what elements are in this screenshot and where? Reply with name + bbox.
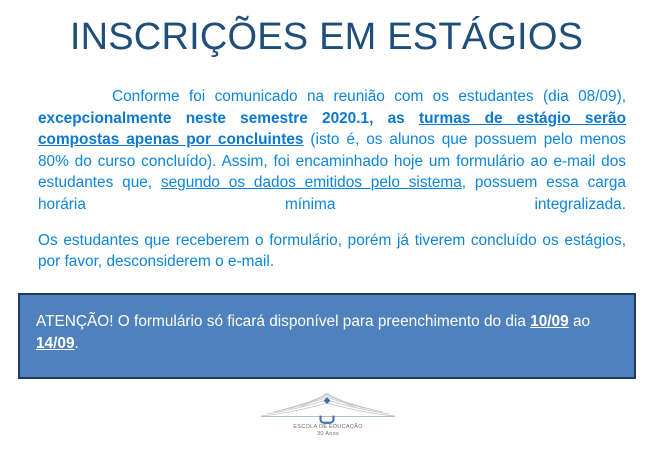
logo-caption-line-1: ESCOLA DE EDUCAÇÃO bbox=[253, 424, 403, 431]
paragraph-one-bold-segment: excepcionalmente neste semestre 2020.1, … bbox=[38, 110, 419, 127]
attention-segment-1: ATENÇÃO! O formulário só ficará disponív… bbox=[36, 313, 530, 330]
attention-date-end: 14/09 bbox=[36, 335, 75, 352]
paragraph-one-segment-1: Conforme foi comunicado na reunião com o… bbox=[112, 88, 626, 105]
attention-callout-box: ATENÇÃO! O formulário só ficará disponív… bbox=[18, 293, 636, 379]
slide-canvas: INSCRIÇÕES EM ESTÁGIOS Conforme foi comu… bbox=[0, 0, 653, 451]
attention-text: ATENÇÃO! O formulário só ficará disponív… bbox=[36, 311, 622, 355]
paragraph-two: Os estudantes que receberem o formulário… bbox=[38, 230, 626, 273]
logo-caption: ESCOLA DE EDUCAÇÃO 30 Anos bbox=[253, 424, 403, 439]
attention-segment-3: . bbox=[75, 335, 79, 352]
attention-date-start: 10/09 bbox=[530, 313, 569, 330]
page-title: INSCRIÇÕES EM ESTÁGIOS bbox=[0, 14, 653, 60]
logo-caption-line-2: 30 Anos bbox=[253, 431, 403, 438]
attention-segment-2: ao bbox=[569, 313, 590, 330]
escola-de-educacao-logo: ESCOLA DE EDUCAÇÃO 30 Anos bbox=[253, 390, 403, 448]
open-book-icon bbox=[253, 390, 403, 426]
body-text-block: Conforme foi comunicado na reunião com o… bbox=[38, 86, 626, 273]
paragraph-one: Conforme foi comunicado na reunião com o… bbox=[38, 86, 626, 216]
paragraph-two-text: Os estudantes que receberem o formulário… bbox=[38, 232, 626, 271]
paragraph-one-underline-segment: segundo os dados emitidos pelo sistema bbox=[161, 174, 462, 191]
